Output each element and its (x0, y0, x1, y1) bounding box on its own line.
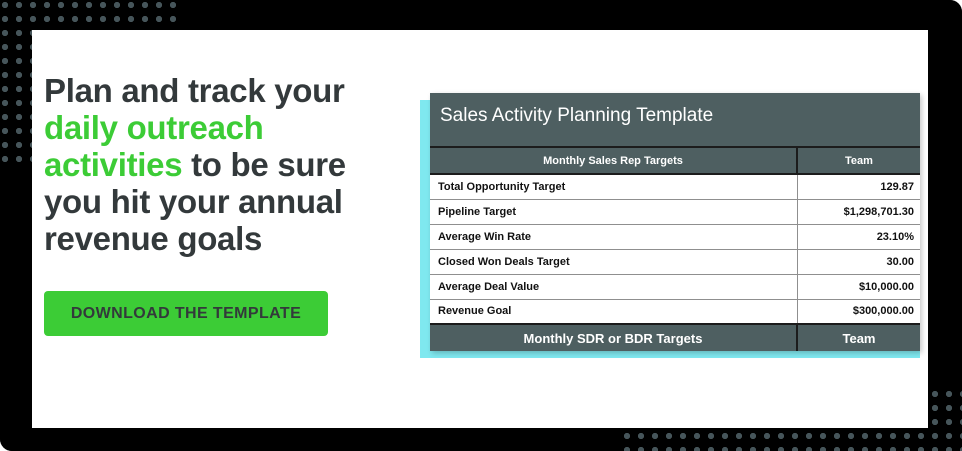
row-label: Closed Won Deals Target (430, 249, 797, 274)
row-label: Pipeline Target (430, 199, 797, 224)
column-header-team: Team (797, 148, 920, 174)
row-value: $10,000.00 (797, 274, 920, 299)
table-row: Total Opportunity Target 129.87 (430, 174, 920, 199)
row-value: 129.87 (797, 174, 920, 199)
table-row: Closed Won Deals Target 30.00 (430, 249, 920, 274)
column-header-sdr-bdr-targets: Monthly SDR or BDR Targets (430, 324, 797, 351)
row-label: Total Opportunity Target (430, 174, 797, 199)
promo-banner: Plan and track your daily outreach activ… (0, 0, 962, 451)
row-value: 23.10% (797, 224, 920, 249)
headline-text-leading: Plan and track your (44, 72, 345, 109)
spreadsheet-preview: Sales Activity Planning Template Monthly… (430, 93, 920, 351)
page-title: Plan and track your daily outreach activ… (44, 72, 374, 257)
table-row: Average Deal Value $10,000.00 (430, 274, 920, 299)
spreadsheet-title-text: Sales Activity Planning Template (440, 105, 713, 126)
spreadsheet-title: Sales Activity Planning Template (430, 93, 920, 148)
targets-table: Monthly Sales Rep Targets Team Total Opp… (430, 148, 920, 351)
table-section-header-row: Monthly SDR or BDR Targets Team (430, 324, 920, 351)
column-header-sales-rep-targets: Monthly Sales Rep Targets (430, 148, 797, 174)
row-value: 30.00 (797, 249, 920, 274)
table-section-header-row: Monthly Sales Rep Targets Team (430, 148, 920, 174)
table-row: Average Win Rate 23.10% (430, 224, 920, 249)
row-value: $1,298,701.30 (797, 199, 920, 224)
download-template-button[interactable]: DOWNLOAD THE TEMPLATE (44, 291, 328, 336)
table-row: Pipeline Target $1,298,701.30 (430, 199, 920, 224)
table-row: Revenue Goal $300,000.00 (430, 299, 920, 324)
backdrop-right (928, 0, 962, 451)
row-label: Average Deal Value (430, 274, 797, 299)
row-label: Average Win Rate (430, 224, 797, 249)
row-label: Revenue Goal (430, 299, 797, 324)
column-header-team: Team (797, 324, 920, 351)
row-value: $300,000.00 (797, 299, 920, 324)
promo-column: Plan and track your daily outreach activ… (44, 72, 374, 336)
